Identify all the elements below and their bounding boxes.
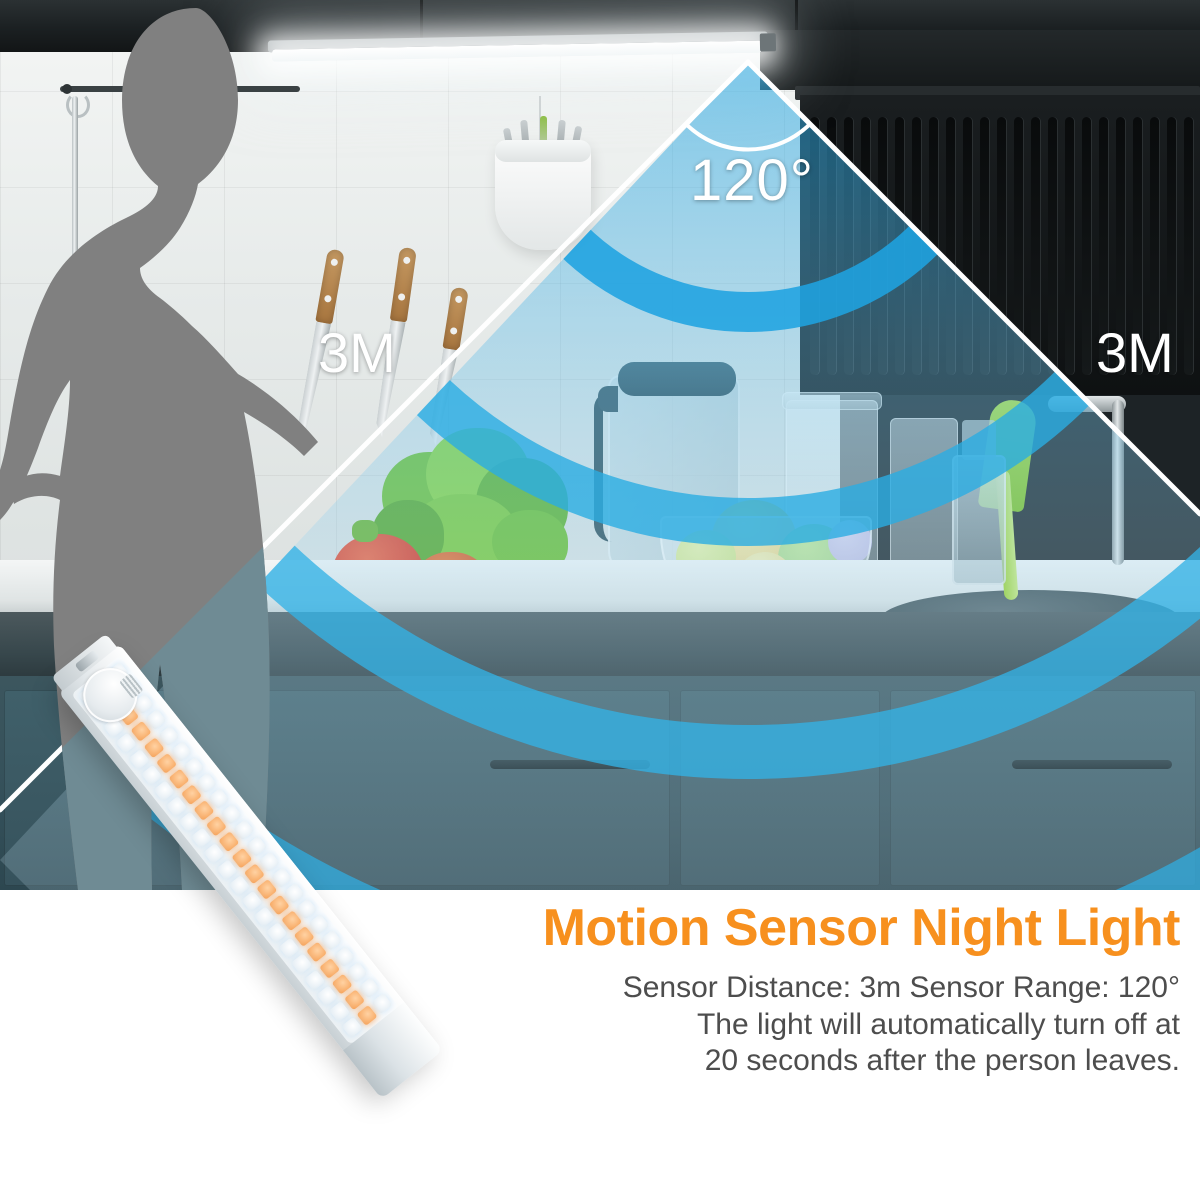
spec-line-2: The light will automatically turn off at: [420, 1007, 1180, 1044]
led-white: [208, 788, 229, 809]
spec-line-3: 20 seconds after the person leaves.: [420, 1043, 1180, 1080]
led-white: [171, 741, 192, 762]
led-white: [309, 914, 330, 935]
led-white: [196, 772, 217, 793]
led-white: [246, 835, 267, 856]
led-white: [371, 993, 392, 1014]
led-white: [359, 977, 380, 998]
product-listing-image: 120° 3M 3M Motion Sensor Night Light Sen…: [0, 0, 1200, 1200]
led-white: [284, 883, 305, 904]
headline: Motion Sensor Night Light: [420, 900, 1180, 956]
led-white: [221, 804, 242, 825]
angle-label: 120°: [690, 152, 814, 210]
spec-line-1: Sensor Distance: 3m Sensor Range: 120°: [420, 970, 1180, 1007]
led-white: [296, 898, 317, 919]
led-white: [271, 867, 292, 888]
led-white: [158, 725, 179, 746]
led-white: [334, 946, 355, 967]
led-white: [146, 709, 167, 730]
led-white: [258, 851, 279, 872]
distance-label-left: 3M: [318, 325, 396, 381]
led-white: [321, 930, 342, 951]
spec-lines: Sensor Distance: 3m Sensor Range: 120° T…: [420, 970, 1180, 1080]
led-white: [183, 757, 204, 778]
marketing-text-block: Motion Sensor Night Light Sensor Distanc…: [420, 900, 1180, 1080]
distance-label-right: 3M: [1096, 325, 1174, 381]
led-white: [346, 962, 367, 983]
led-white: [233, 820, 254, 841]
